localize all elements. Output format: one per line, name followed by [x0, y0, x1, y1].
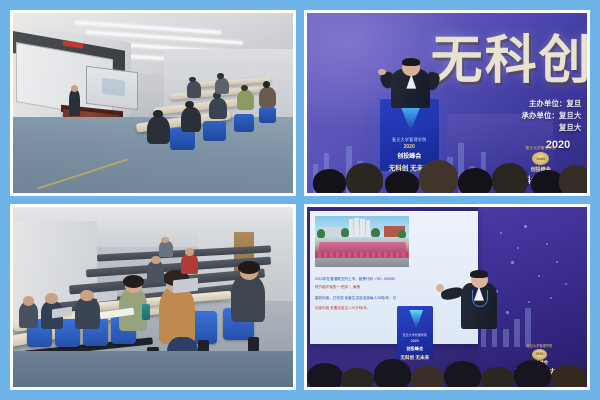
collage-cell-bottom-right[interactable]: 2013年在香港联交所上市，股票代码（HK. 00596） 现节能环保的“一把手…	[304, 204, 590, 390]
audience-head	[444, 361, 480, 387]
organizer-line: 主办单位：复旦	[521, 98, 581, 110]
collage-cell-top-right[interactable]: 无科创 主办单位：复旦 承办单位：复旦大 复旦大 2020 复旦大学管理学院 2…	[304, 10, 590, 196]
attendee	[75, 297, 100, 329]
audience-head	[481, 367, 515, 387]
audience-head	[492, 163, 528, 193]
speaker-body	[69, 89, 80, 116]
tree	[371, 228, 379, 237]
attendee-foreground	[159, 286, 195, 344]
attendee	[231, 275, 265, 322]
photo-lecture-hall-wide	[13, 13, 293, 193]
backdrop-headline: 无科创	[431, 18, 587, 93]
attendee-head	[185, 101, 193, 108]
slide-text-line: 高效利用，已完成 化废生沼及沼液每人30吨/年，已	[315, 296, 396, 301]
audience-head	[411, 366, 445, 387]
backdrop-dot	[506, 311, 509, 314]
photo-collage: 无科创 主办单位：复旦 承办单位：复旦大 复旦大 2020 复旦大学管理学院 2…	[0, 0, 600, 400]
attendee	[209, 98, 227, 120]
collage-cell-top-left[interactable]	[10, 10, 296, 196]
building	[349, 219, 354, 237]
speaker-hair	[402, 58, 420, 66]
backdrop-organizers: 主办单位：复旦 承办单位：复旦大 复旦大	[521, 98, 581, 135]
projected-slide: 2013年在香港联交所上市，股票代码（HK. 00596） 现节能环保的“一把手…	[310, 211, 478, 344]
attendee	[187, 81, 201, 97]
audience-head	[374, 359, 410, 387]
attendee	[259, 87, 276, 107]
projected-slide	[102, 78, 125, 97]
slide-text-line: 化废利用 处置总量达1.20万吨/年。	[315, 306, 371, 311]
attendee	[237, 90, 254, 110]
backdrop-dot	[517, 247, 519, 249]
attendee-head	[153, 110, 163, 118]
laptop	[97, 291, 117, 302]
building	[360, 219, 365, 237]
speaker-hand	[378, 69, 385, 75]
attendee	[19, 302, 39, 327]
backdrop-dot	[528, 301, 530, 303]
chair	[234, 114, 254, 132]
backdrop-bar	[525, 308, 531, 348]
attendee-hair	[238, 261, 260, 274]
backdrop-dot	[524, 225, 527, 228]
podium-institution: 复旦大学管理学院	[380, 137, 439, 143]
laptop	[173, 278, 198, 293]
audience-head	[385, 171, 419, 193]
attendee	[147, 261, 164, 283]
audience-silhouettes	[307, 344, 587, 387]
presenter-hair	[470, 270, 488, 278]
backdrop-dot	[500, 232, 502, 234]
tree	[398, 230, 406, 238]
photo-presenter-with-slide: 2013年在香港联交所上市，股票代码（HK. 00596） 现节能环保的“一把手…	[307, 207, 587, 387]
backdrop-dot	[565, 283, 567, 285]
slide-text-line: 现节能环保的“一把手”，聚焦	[315, 285, 361, 290]
attendee	[181, 254, 198, 274]
audience-head	[559, 165, 587, 193]
podium-institution: 复旦大学管理学院	[397, 333, 433, 337]
backdrop-dot	[538, 275, 540, 277]
slide-campus-photo	[315, 216, 409, 267]
podium-year: 2020	[397, 339, 433, 343]
backdrop-dot	[511, 261, 514, 264]
water-bottle	[142, 304, 150, 320]
tree	[341, 228, 349, 237]
attendee	[215, 78, 229, 94]
photo-audience-seating	[13, 207, 293, 387]
audience-head	[514, 360, 550, 387]
audience-head	[307, 363, 343, 387]
audience-head	[346, 163, 382, 193]
attendee-head	[263, 81, 270, 87]
slide-text-line: 2013年在香港联交所上市，股票代码（HK. 00596）	[315, 277, 397, 282]
audience-head	[341, 368, 375, 387]
backdrop-dot	[546, 243, 548, 245]
attendee-hair	[123, 275, 144, 288]
audience-head	[551, 365, 587, 387]
organizer-line: 承办单位：复旦大	[521, 110, 581, 122]
audience-head	[419, 160, 458, 193]
backdrop-dot	[550, 297, 552, 299]
attendee	[181, 107, 201, 132]
attendee-head	[217, 73, 223, 78]
attendee-head	[185, 248, 194, 255]
backdrop-dot	[556, 261, 558, 263]
attendee-head	[23, 296, 35, 306]
chair	[203, 121, 225, 141]
photo-stage-speaker: 无科创 主办单位：复旦 承办单位：复旦大 复旦大 2020 复旦大学管理学院 2…	[307, 13, 587, 193]
organizer-line: 复旦大	[521, 122, 581, 134]
attendee	[159, 241, 173, 257]
building	[354, 218, 359, 237]
floor	[13, 351, 293, 387]
chair	[259, 107, 276, 123]
audience-silhouettes	[307, 146, 587, 193]
road	[315, 258, 409, 266]
tree	[317, 229, 325, 238]
audience-head	[458, 168, 492, 193]
projection-screen	[86, 66, 138, 110]
attendee	[147, 116, 169, 145]
building	[366, 220, 371, 237]
collage-cell-bottom-left[interactable]	[10, 204, 296, 390]
audience-head	[313, 169, 347, 193]
